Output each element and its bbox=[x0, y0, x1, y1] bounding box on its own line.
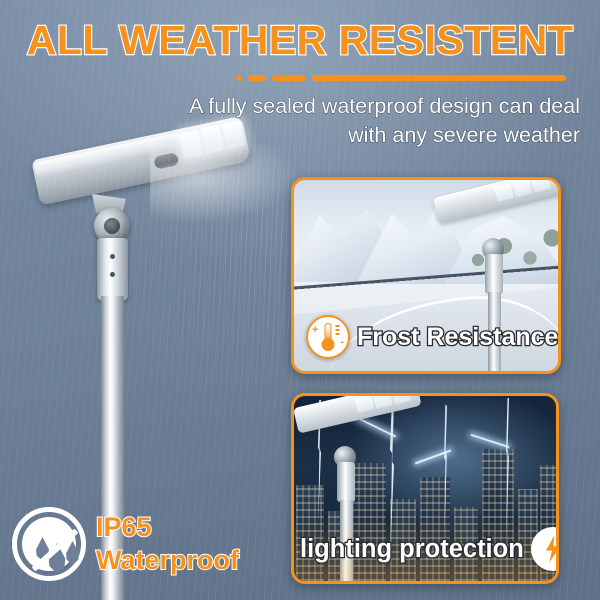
caption-lighting-label: lighting protection bbox=[300, 535, 524, 564]
plus-symbol: + bbox=[312, 325, 318, 336]
feature-panel-frost[interactable]: + - Frost Resistance bbox=[291, 177, 561, 374]
subtitle-line-2: with any severe weather bbox=[40, 121, 580, 150]
thermometer-glyph bbox=[322, 323, 335, 351]
ip65-waterproof-badge: IP65 Waterproof bbox=[12, 503, 282, 587]
lamp-head bbox=[293, 393, 422, 434]
lightning-branch bbox=[471, 434, 510, 448]
water-drop-icon bbox=[64, 541, 81, 565]
pole-collar bbox=[97, 238, 128, 300]
no-water-waterproof-icon bbox=[12, 507, 86, 581]
caption-frost: + - Frost Resistance bbox=[306, 315, 558, 359]
feature-panel-lighting-protection[interactable]: lighting protection bbox=[291, 393, 559, 584]
lightning-bolt-glyph bbox=[544, 536, 559, 563]
subtitle: A fully sealed waterproof design can dea… bbox=[40, 92, 580, 150]
thermometer-icon: + - bbox=[306, 315, 350, 359]
marketing-banner: ALL WEATHER RESISTENT ALL WEATHER RESIST… bbox=[0, 0, 600, 600]
ip65-line-1: IP65 bbox=[96, 511, 282, 544]
pole-collar bbox=[337, 462, 355, 502]
lamp-head bbox=[433, 177, 561, 224]
icon-inner-disc bbox=[22, 517, 76, 571]
caption-frost-label: Frost Resistance bbox=[357, 323, 558, 352]
dash-divider-icon bbox=[236, 73, 566, 82]
page-title: ALL WEATHER RESISTENT bbox=[0, 18, 600, 62]
caption-lighting: lighting protection bbox=[300, 527, 559, 571]
screw-icon bbox=[110, 254, 115, 259]
ip65-label: IP65 Waterproof bbox=[96, 511, 282, 577]
subtitle-line-1: A fully sealed waterproof design can dea… bbox=[40, 92, 580, 121]
ip65-line-2: Waterproof bbox=[96, 544, 282, 577]
screw-icon bbox=[110, 272, 115, 277]
pole-collar bbox=[485, 254, 503, 294]
lightning-bolt-icon bbox=[531, 527, 559, 571]
minus-symbol: - bbox=[340, 337, 344, 348]
